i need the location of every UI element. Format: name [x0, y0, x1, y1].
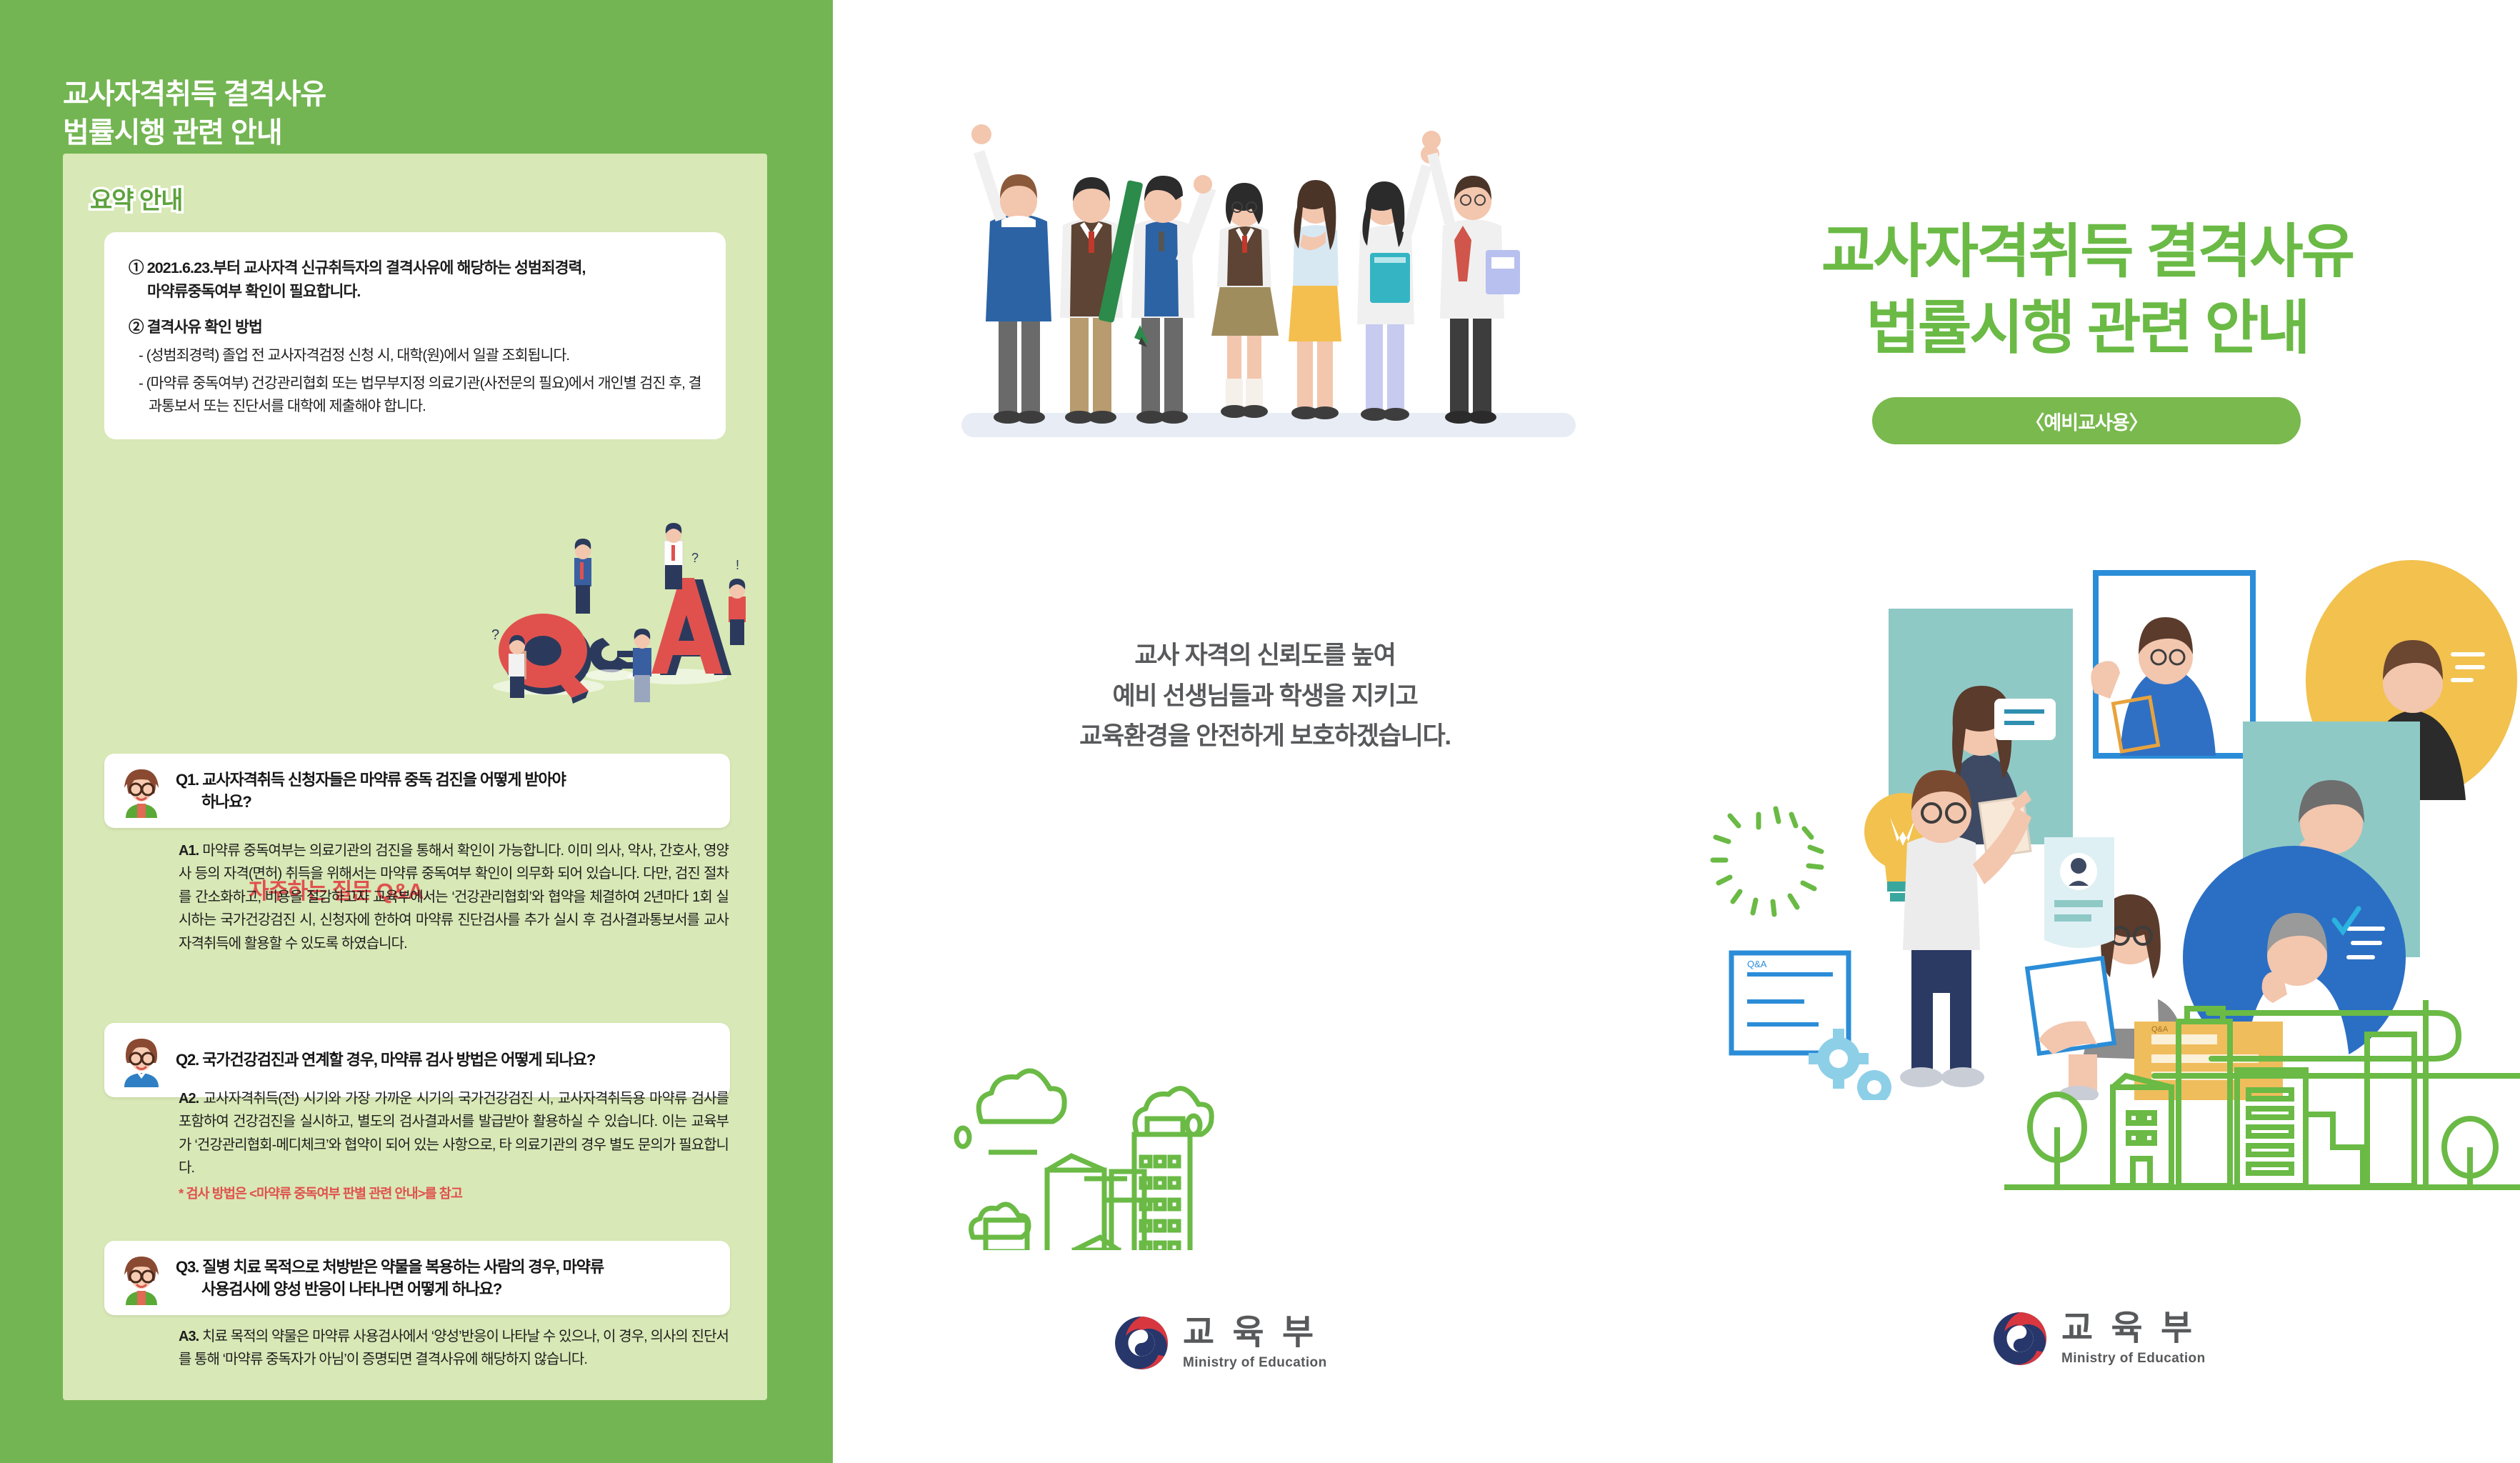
- person-5: [1289, 180, 1341, 419]
- moe-logo-right-text: 교 육 부 Ministry of Education: [2061, 1312, 2206, 1367]
- summary-item-2-sub-1: - (성범죄경력) 졸업 전 교사자격검정 신청 시, 대학(원)에서 일괄 조…: [129, 344, 704, 367]
- person-4: [1211, 183, 1279, 418]
- right-city-skyline-illustration: [2004, 1000, 2520, 1236]
- summary-item-2-sub-2: - (마약류 중독여부) 건강관리협회 또는 법무부지정 의료기관(사전문의 필…: [129, 372, 704, 418]
- summary-item-1-line-2: 마약류중독여부 확인이 필요합니다.: [129, 280, 704, 304]
- summary-item-1-text-1: 2021.6.23.부터 교사자격 신규취득자의 결격사유에 해당하는 성범죄경…: [147, 259, 586, 276]
- qa-question-3[interactable]: Q3. 질병 치료 목적으로 처방받은 약물을 복용하는 사람의 경우, 마약류…: [104, 1241, 730, 1315]
- tagline-line-2: 예비 선생님들과 학생을 지키고: [969, 676, 1561, 717]
- left-header-line-1: 교사자격취득 결격사유: [63, 75, 763, 114]
- taegeuk-logo-icon: [1111, 1313, 1171, 1373]
- qa-figure-2: [574, 539, 591, 614]
- question-mark-glyph: ?: [491, 627, 499, 643]
- profile-card-icon: [2044, 837, 2114, 948]
- female-glasses-avatar-icon: [114, 764, 169, 818]
- letter-ampersand: [586, 638, 634, 681]
- letter-a: [651, 578, 731, 675]
- left-panel-header: 교사자격취득 결격사유 법률시행 관련 안내: [63, 75, 763, 152]
- person-3: [1098, 175, 1216, 424]
- exclamation-glyph: !: [736, 558, 739, 572]
- female-glasses-avatar-icon-2: [114, 1251, 169, 1305]
- moe-en-text-right: Ministry of Education: [2061, 1351, 2206, 1367]
- moe-kr-text-center: 교 육 부: [1183, 1316, 1327, 1350]
- qa-q2-line-1: 국가건강검진과 연계할 경우, 마약류 검사 방법은 어떻게 되나요?: [202, 1051, 595, 1069]
- qa-figure-4: [633, 629, 651, 702]
- male-glasses-avatar-icon: [114, 1033, 169, 1087]
- form-document-icon: Q&A: [1731, 953, 1849, 1053]
- right-title-block: 교사자격취득 결격사유 법률시행 관련 안내: [1709, 214, 2466, 366]
- qa-q1-label: Q1.: [176, 771, 199, 789]
- qa-answer-3: A3. 치료 목적의 약물은 마약류 사용검사에서 ‘양성’반응이 나타날 수 …: [179, 1325, 729, 1372]
- moe-en-text-center: Ministry of Education: [1183, 1355, 1327, 1371]
- qa-question-1[interactable]: Q1. 교사자격취득 신청자들은 마약류 중독 검진을 어떻게 받아야 하나요?: [104, 754, 730, 828]
- moe-kr-text-right: 교 육 부: [2061, 1312, 2206, 1346]
- video-panel-man-blue: [2091, 573, 2253, 756]
- person-7: [1422, 131, 1520, 424]
- city-skyline-illustration: [840, 943, 1540, 1250]
- summary-item-2-marker: ②: [129, 319, 144, 336]
- qa-figure-3: [664, 523, 683, 589]
- qa-a2-note: * 검사 방법은 <마약류 중독여부 판별 관련 안내>를 참고: [179, 1183, 729, 1204]
- qa-question-1-text: Q1. 교사자격취득 신청자들은 마약류 중독 검진을 어떻게 받아야 하나요?: [176, 769, 566, 813]
- qa-q3-line-1: 질병 치료 목적으로 처방받은 약물을 복용하는 사람의 경우, 마약류: [202, 1258, 604, 1276]
- right-title-line-1: 교사자격취득 결격사유: [1709, 214, 2466, 291]
- qa-figure-5: [729, 579, 746, 645]
- qa-a3-label: A3.: [179, 1329, 199, 1344]
- summary-item-2-heading: 결격사유 확인 방법: [147, 319, 262, 336]
- summary-item-1-line-1: ① 2021.6.23.부터 교사자격 신규취득자의 결격사유에 해당하는 성범…: [129, 256, 704, 280]
- moe-logo-center-text: 교 육 부 Ministry of Education: [1183, 1316, 1327, 1371]
- moe-logo-center: 교 육 부 Ministry of Education: [1111, 1313, 1327, 1373]
- qa-question-3-text: Q3. 질병 치료 목적으로 처방받은 약물을 복용하는 사람의 경우, 마약류…: [176, 1256, 604, 1300]
- qa-a1-label: A1.: [179, 843, 199, 859]
- taegeuk-logo-icon-2: [1990, 1309, 2050, 1369]
- dotted-ring-decoration: [1713, 809, 1821, 914]
- tagline-line-3: 교육환경을 안전하게 보호하겠습니다.: [969, 716, 1561, 757]
- qa-q3-label: Q3.: [176, 1258, 199, 1276]
- qa-a2-label: A2.: [179, 1091, 199, 1107]
- qa-q1-line-2: 하나요?: [176, 791, 566, 813]
- right-page: 교사 자격의 신뢰도를 높여 예비 선생님들과 학생을 지키고 교육환경을 안전…: [833, 0, 2520, 1463]
- summary-item-1: ① 2021.6.23.부터 교사자격 신규취득자의 결격사유에 해당하는 성범…: [129, 256, 704, 303]
- qa-a1-text: 마약류 중독여부는 의료기관의 검진을 통해서 확인이 가능합니다. 이미 의사…: [179, 843, 729, 952]
- summary-item-1-marker: ①: [129, 259, 144, 276]
- qa-a2-text: 교사자격취득(전) 시기와 가장 가까운 시기의 국가건강검진 시, 교사자격취…: [179, 1091, 729, 1176]
- summary-white-box: ① 2021.6.23.부터 교사자격 신규취득자의 결격사유에 해당하는 성범…: [104, 232, 726, 439]
- qa-q1-line-1: 교사자격취득 신청자들은 마약류 중독 검진을 어떻게 받아야: [202, 771, 566, 789]
- left-header-line-2: 법률시행 관련 안내: [63, 114, 763, 152]
- qa-q2-label: Q2.: [176, 1051, 199, 1069]
- qa-question-2[interactable]: Q2. 국가건강검진과 연계할 경우, 마약류 검사 방법은 어떻게 되나요?: [104, 1023, 730, 1097]
- person-6: [1357, 145, 1439, 421]
- summary-item-2-heading-row: ② 결격사유 확인 방법: [129, 316, 704, 339]
- qa-figure-1: [509, 635, 526, 698]
- moe-logo-right: 교 육 부 Ministry of Education: [1990, 1309, 2206, 1369]
- group-of-people-illustration: [947, 79, 1590, 450]
- qa-answer-2: A2. 교사자격취득(전) 시기와 가장 가까운 시기의 국가건강검진 시, 교…: [179, 1087, 729, 1204]
- qa-letters-illustration: ? ? !: [463, 511, 763, 725]
- qa-a3-text: 치료 목적의 약물은 마약류 사용검사에서 ‘양성’반응이 나타날 수 있으나,…: [179, 1329, 729, 1367]
- qa-q3-line-2: 사용검사에 양성 반응이 나타나면 어떻게 하나요?: [176, 1278, 604, 1300]
- svg-text:Q&A: Q&A: [1747, 959, 1767, 969]
- qa-answer-1: A1. 마약류 중독여부는 의료기관의 검진을 통해서 확인이 가능합니다. 이…: [179, 839, 729, 955]
- qa-question-2-text: Q2. 국가건강검진과 연계할 경우, 마약류 검사 방법은 어떻게 되나요?: [176, 1049, 595, 1071]
- right-title-line-2: 법률시행 관련 안내: [1709, 291, 2466, 367]
- question-mark-glyph-2: ?: [691, 551, 699, 565]
- tagline-block: 교사 자격의 신뢰도를 높여 예비 선생님들과 학생을 지키고 교육환경을 안전…: [969, 636, 1561, 757]
- left-panel: 교사자격취득 결격사유 법률시행 관련 안내 요약 안내 ① 2021.6.23…: [0, 0, 833, 1463]
- summary-badge: 요약 안내: [90, 181, 183, 216]
- person-1: [971, 124, 1051, 424]
- summary-item-2: ② 결격사유 확인 방법 - (성범죄경력) 졸업 전 교사자격검정 신청 시,…: [129, 316, 704, 417]
- audience-badge: 〈예비교사용〉: [1872, 397, 2301, 444]
- tagline-line-1: 교사 자격의 신뢰도를 높여: [969, 636, 1561, 676]
